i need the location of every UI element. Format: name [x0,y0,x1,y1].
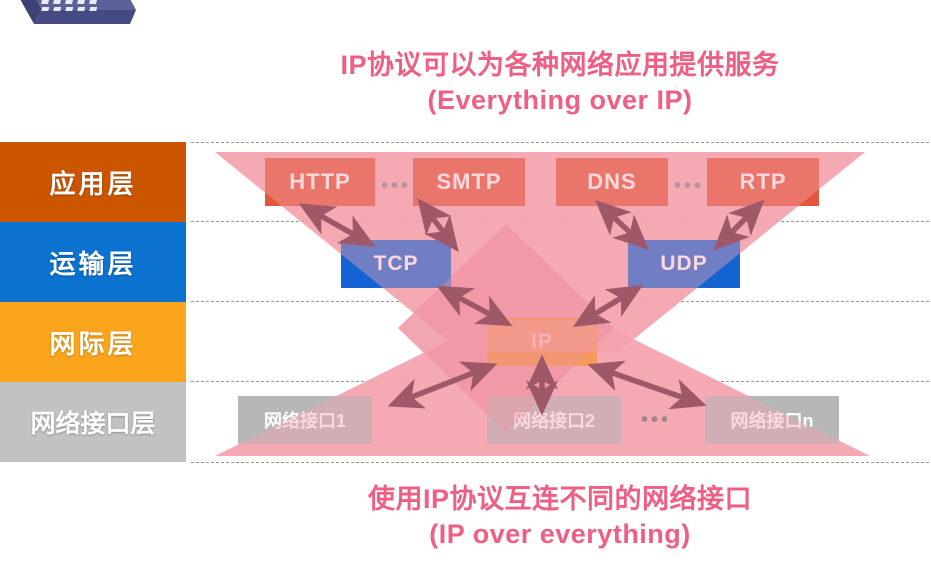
protocol-label-smtp: SMTP [436,169,501,195]
ellipsis-link: ••• [641,410,671,430]
bottom-caption-line2: (IP over everything) [180,516,931,552]
layer-bar-link[interactable]: 网络接口层 [0,382,186,462]
layer-label-application: 应用层 [49,164,136,201]
bottom-caption-line1: 使用IP协议互连不同的网络接口 [180,482,931,516]
interface-label-1: 网络接口1 [264,407,346,433]
ellipsis-app-right: ••• [674,176,704,196]
divider-line-1 [191,142,929,143]
protocol-label-dns: DNS [587,169,636,195]
protocol-box-udp[interactable]: UDP [628,240,740,288]
layer-bar-application[interactable]: 应用层 [0,142,186,222]
layer-bar-internet[interactable]: 网际层 [0,302,186,382]
interface-box-n[interactable]: 网络接口n [705,396,839,444]
protocol-box-smtp[interactable]: SMTP [413,158,525,206]
protocol-box-rtp[interactable]: RTP [707,158,819,206]
slide-canvas: IP协议可以为各种网络应用提供服务 (Everything over IP) 应… [0,0,931,584]
protocol-box-http[interactable]: HTTP [265,158,375,206]
ellipsis-app-left: ••• [381,176,411,196]
protocol-label-rtp: RTP [740,169,787,195]
layer-bar-transport[interactable]: 运输层 [0,222,186,302]
protocol-label-udp: UDP [660,252,707,276]
interface-label-2: 网络接口2 [513,407,595,433]
top-caption-line2: (Everything over IP) [180,82,931,118]
layer-label-transport: 运输层 [49,244,136,281]
protocol-label-http: HTTP [289,169,350,195]
protocol-box-ip[interactable]: IP [487,318,597,366]
protocol-label-ip: IP [531,330,553,354]
layer-label-link: 网络接口层 [30,404,155,440]
top-caption: IP协议可以为各种网络应用提供服务 (Everything over IP) [180,48,931,118]
interface-box-1[interactable]: 网络接口1 [238,396,372,444]
laptop-computer-icon [8,0,148,48]
interface-box-2[interactable]: 网络接口2 [487,396,621,444]
top-caption-line1: IP协议可以为各种网络应用提供服务 [180,48,931,82]
bottom-caption: 使用IP协议互连不同的网络接口 (IP over everything) [180,482,931,552]
divider-line-5 [191,462,929,463]
protocol-box-dns[interactable]: DNS [556,158,668,206]
protocol-box-tcp[interactable]: TCP [341,240,451,288]
protocol-label-tcp: TCP [374,252,419,276]
interface-label-n: 网络接口n [731,407,814,433]
layer-label-internet: 网际层 [49,324,136,361]
